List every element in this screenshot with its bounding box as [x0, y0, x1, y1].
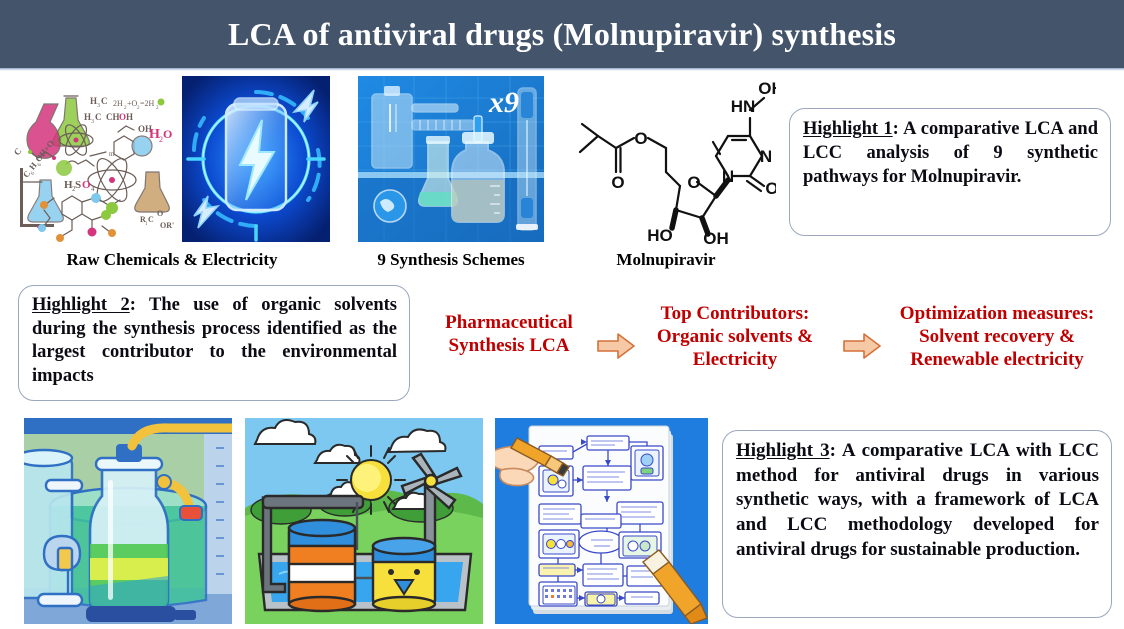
highlight-3-label: Highlight 3 — [736, 440, 830, 461]
nh-label: HN — [731, 97, 756, 116]
svg-text:2: 2 — [156, 106, 159, 111]
ester-carbonyl-label: O — [611, 173, 624, 192]
highlight-2-text: Highlight 2: The use of organic solvents… — [32, 294, 397, 389]
caption-raw-chemicals: Raw Chemicals & Electricity — [14, 250, 330, 270]
svg-text:O: O — [82, 179, 91, 191]
highlight-2-separator: : — [130, 295, 149, 315]
flow-step-optimization: Optimization measures: Solvent recovery … — [878, 303, 1116, 371]
svg-text:m: m — [109, 150, 115, 158]
right-arrow-icon — [597, 333, 635, 359]
lca-framework-flowchart-image — [495, 418, 708, 624]
highlight-1-box: Highlight 1: A comparative LCA and LCC a… — [789, 108, 1111, 236]
flow-step-lca: Pharmaceutical Synthesis LCA — [424, 312, 594, 358]
electricity-battery-image — [182, 76, 330, 242]
flow-arrow-2 — [843, 333, 881, 359]
ring-nitrogen-n3-label: N — [760, 147, 772, 166]
svg-text:H: H — [126, 112, 133, 122]
hydroxyl-left-label: HO — [647, 226, 673, 244]
x9-badge-label: x9 — [488, 86, 519, 119]
distillation-svg — [24, 418, 232, 624]
svg-text:4: 4 — [91, 185, 95, 193]
flowchart-paper-svg — [495, 418, 708, 624]
svg-text:2H: 2H — [113, 99, 123, 108]
svg-text:=2H: =2H — [140, 99, 155, 108]
svg-text:C: C — [14, 146, 24, 157]
svg-text:3: 3 — [91, 119, 94, 125]
right-arrow-icon — [843, 333, 881, 359]
flow-step-optimization-line-1: Optimization measures: — [878, 303, 1116, 326]
hydroxyl-right-label: OH — [703, 229, 729, 244]
ester-oxygen-label: O — [634, 129, 647, 148]
svg-text:O: O — [163, 127, 172, 141]
carbonyl-oxygen-label: O — [765, 179, 776, 198]
ring-nitrogen-n1-label: N — [722, 167, 734, 186]
svg-text:H: H — [84, 112, 91, 122]
flow-arrow-1 — [597, 333, 635, 359]
highlight-3-box: Highlight 3: A comparative LCA with LCC … — [722, 430, 1112, 618]
svg-text:+O: +O — [127, 99, 138, 108]
svg-text:C: C — [95, 112, 102, 122]
renewable-energy-svg — [245, 418, 483, 624]
flow-step-optimization-line-3: Renewable electricity — [878, 349, 1116, 372]
svg-text:3: 3 — [97, 103, 100, 109]
svg-text:CH: CH — [106, 112, 120, 122]
renewable-energy-image — [245, 418, 483, 624]
flow-step-contributors-line-1: Top Contributors: — [634, 303, 836, 326]
page-title: LCA of antiviral drugs (Molnupiravir) sy… — [228, 16, 896, 53]
svg-text:C: C — [101, 96, 108, 106]
molnupiravir-structure-image: O O O HO OH N N O HN OH — [556, 76, 776, 244]
chemistry-doodle-svg: H3C H3C CHOH 2H2+O2=2H2 OH H2O C C6H6OH+… — [14, 76, 182, 242]
lab-apparatus-svg: x9 — [358, 76, 544, 242]
highlight-1-label: Highlight 1 — [803, 119, 893, 139]
solvent-recovery-image — [24, 418, 232, 624]
caption-synthesis-schemes: 9 Synthesis Schemes — [358, 250, 544, 270]
svg-text:C: C — [148, 215, 154, 224]
highlight-2-box: Highlight 2: The use of organic solvents… — [18, 285, 410, 401]
synthesis-lab-image: x9 — [358, 76, 544, 242]
highlight-3-text: Highlight 3: A comparative LCA with LCC … — [736, 439, 1099, 562]
flow-step-optimization-line-2: Solvent recovery & — [878, 326, 1116, 349]
ring-oxygen-label: O — [687, 173, 700, 192]
flow-step-contributors: Top Contributors: Organic solvents & Ele… — [634, 303, 836, 371]
header-banner: LCA of antiviral drugs (Molnupiravir) sy… — [0, 0, 1124, 68]
svg-text:S: S — [75, 179, 81, 191]
highlight-1-text: Highlight 1: A comparative LCA and LCC a… — [803, 117, 1098, 189]
svg-text:O: O — [119, 112, 126, 122]
svg-text:O: O — [157, 209, 163, 218]
flow-step-lca-line-2: Synthesis LCA — [424, 335, 594, 358]
graphical-abstract-page: LCA of antiviral drugs (Molnupiravir) sy… — [0, 0, 1124, 629]
caption-molnupiravir: Molnupiravir — [556, 250, 776, 270]
svg-text:OR': OR' — [160, 221, 174, 230]
battery-bolt-svg — [182, 76, 330, 242]
highlight-3-separator: : — [830, 440, 842, 461]
hydroxylamine-oh-label: OH — [758, 79, 776, 98]
highlight-1-separator: : — [893, 119, 903, 139]
molnupiravir-svg: O O O HO OH N N O HN OH — [556, 76, 776, 244]
flow-step-lca-line-1: Pharmaceutical — [424, 312, 594, 335]
svg-text:H: H — [90, 96, 97, 106]
flow-step-contributors-line-2: Organic solvents & — [634, 326, 836, 349]
chemistry-doodle-image: H3C H3C CHOH 2H2+O2=2H2 OH H2O C C6H6OH+… — [14, 76, 182, 242]
header-divider — [0, 68, 1124, 71]
flow-step-contributors-line-3: Electricity — [634, 349, 836, 372]
highlight-2-label: Highlight 2 — [32, 295, 130, 315]
